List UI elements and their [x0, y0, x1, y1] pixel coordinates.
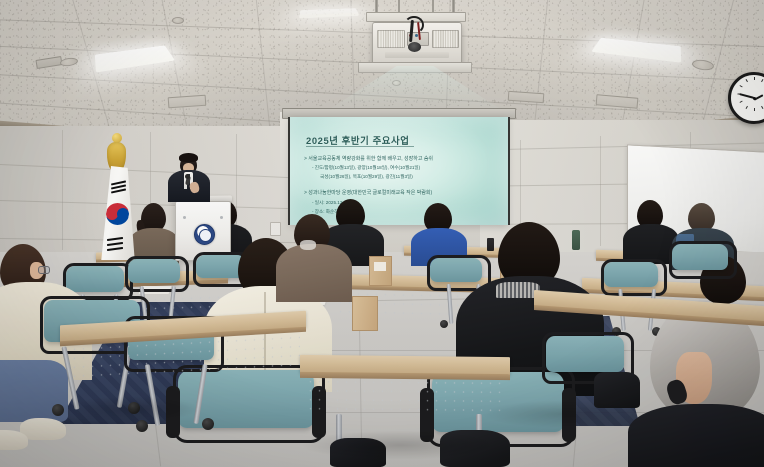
projector-lens: [408, 42, 421, 52]
lectern-emblem: [194, 224, 215, 245]
chair-caster: [202, 418, 214, 430]
slide-bullet: > 서울교육공동체 역량강화를 위한 함께 배우고, 성장하고 숨쉬: [304, 155, 433, 162]
lectern-emblem-inner: [199, 229, 212, 242]
floor-shadow: [480, 400, 650, 428]
desk-item: [487, 238, 494, 251]
lectern-control-dot: [220, 216, 223, 219]
slide-bullet: > 성과나눔한마당 운영(대한민국 글로컬미래교육 작은 박람회): [304, 189, 432, 196]
projection-screen: 2025년 후반기 주요사업 > 서울교육공동체 역량강화를 위한 함께 배우고…: [290, 117, 508, 225]
paper-bag-on-table: [369, 256, 392, 286]
paper-bag-label: [374, 262, 386, 271]
slide-bullet: 국성(10월26일), 목포(10월29일), 광진(11월3일): [320, 174, 413, 180]
projector-cable: [404, 16, 424, 34]
microphone-head: [185, 174, 190, 179]
eyeglasses: [38, 266, 50, 274]
wall-clock: [728, 72, 764, 124]
wall-panel-seam: [600, 136, 601, 246]
floor-shadow: [300, 430, 500, 460]
slide-bullet: - 진도/함평(10월13일), 광양(10월18일), 여수(10월21일): [312, 165, 420, 171]
wall-outlet: [270, 222, 281, 236]
projector-vent: [432, 30, 459, 48]
chair-frame: [669, 241, 737, 279]
seminar-room-photo: 2025년 후반기 주요사업 > 서울교육공동체 역량강화를 위한 함께 배우고…: [0, 0, 764, 467]
projector-vent: [377, 30, 405, 48]
water-bottle: [572, 230, 580, 250]
taeguk-circle: [106, 203, 129, 225]
floor-shadow: [60, 396, 200, 422]
chair-frame: [125, 256, 189, 292]
clock-center-pin: [753, 97, 756, 100]
ceiling-sprinkler: [172, 17, 184, 24]
projector-shelf: [358, 62, 472, 73]
screen-edge-strip: [508, 117, 510, 225]
slide-title: 2025년 후반기 주요사업: [306, 133, 409, 147]
chair-caster: [440, 320, 448, 328]
projector-lower-band: [385, 52, 449, 58]
presenter-hair: [179, 153, 198, 162]
face-mask: [300, 240, 316, 250]
paper-bag-on-table: [352, 296, 378, 331]
slide-title-underline: [306, 146, 414, 147]
attendee-body: [276, 244, 352, 302]
lectern-control-dot: [183, 216, 186, 219]
table-modesty-panel: [306, 377, 504, 417]
ceiling-sprinkler: [392, 80, 401, 86]
chair-frame: [601, 259, 667, 296]
wall-panel-seam: [62, 130, 63, 250]
